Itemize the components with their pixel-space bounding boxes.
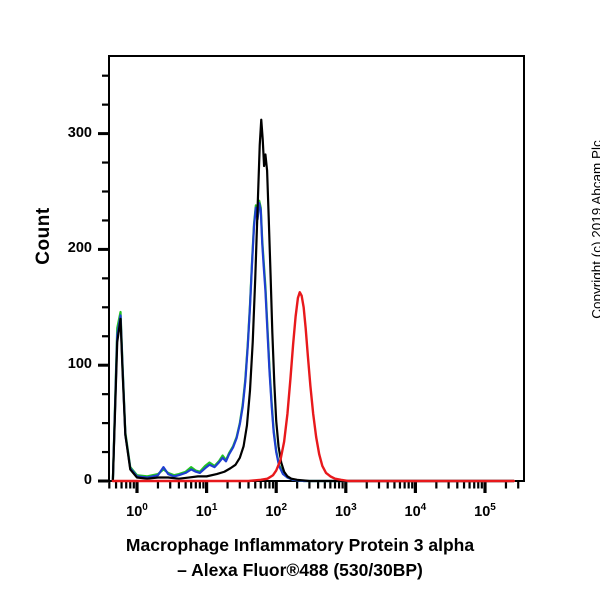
histogram-curve-isotype-green (113, 201, 514, 481)
x-tick-label: 103 (323, 502, 369, 520)
histogram-curves (113, 120, 514, 481)
histogram-curve-stained-red (113, 292, 514, 481)
plot-canvas (0, 0, 600, 600)
histogram-curve-unstained-black (113, 120, 514, 481)
copyright-notice: Copyright (c) 2019 Abcam Plc (590, 80, 600, 380)
y-tick-label: 300 (52, 125, 92, 141)
histogram-curve-isotype-blue (113, 203, 514, 481)
x-tick-label: 105 (462, 502, 508, 520)
y-axis-label: Count (33, 186, 55, 286)
y-tick-label: 0 (52, 472, 92, 488)
x-tick-label: 101 (184, 502, 230, 520)
x-tick-label: 100 (114, 502, 160, 520)
y-tick-label: 200 (52, 240, 92, 256)
x-tick-label: 104 (392, 502, 438, 520)
caption-line-2: – Alexa Fluor®488 (530/30BP) (0, 558, 600, 583)
figure-caption: Macrophage Inflammatory Protein 3 alpha … (0, 533, 600, 583)
x-tick-label: 102 (253, 502, 299, 520)
axis-ticks (98, 76, 518, 493)
flow-cytometry-figure: 0100200300 100101102103104105 Count Copy… (0, 0, 600, 600)
y-tick-label: 100 (52, 356, 92, 372)
caption-line-1: Macrophage Inflammatory Protein 3 alpha (126, 535, 474, 555)
